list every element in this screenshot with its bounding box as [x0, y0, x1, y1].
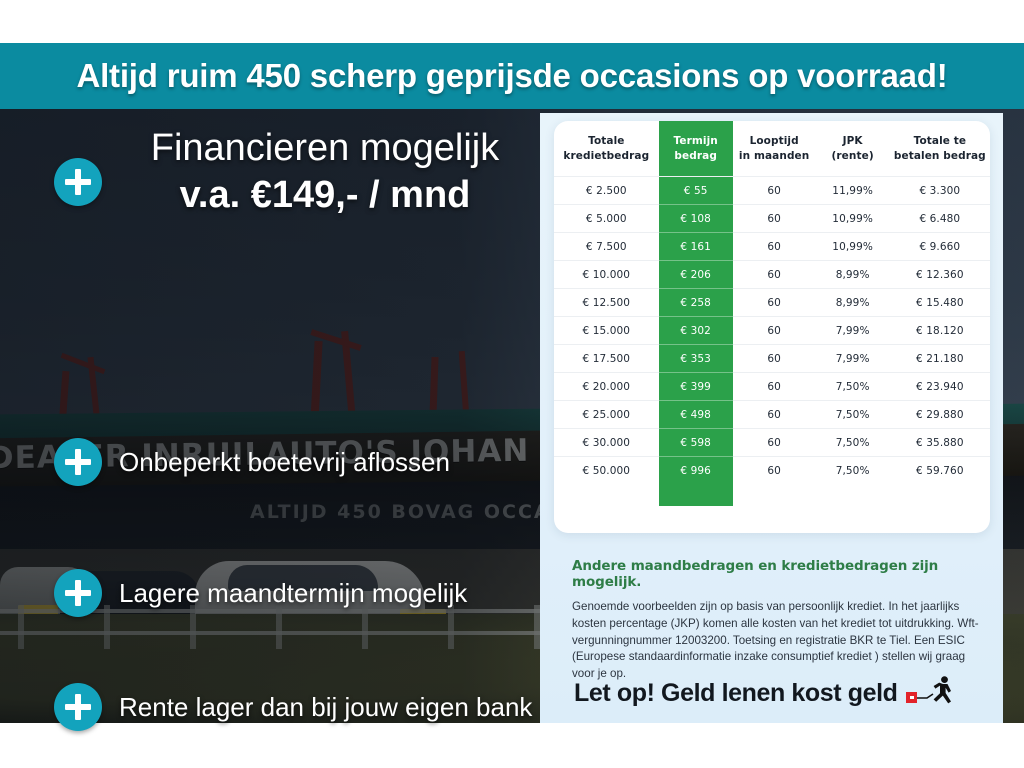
table-cell: € 18.120 [890, 317, 990, 345]
table-cell: € 15.480 [890, 289, 990, 317]
table-cell: 8,99% [816, 289, 890, 317]
promo-bullet-2: Lagere maandtermijn mogelijk [54, 569, 467, 617]
table-cell: 11,99% [816, 177, 890, 205]
table-cell: € 7.500 [554, 233, 659, 261]
credit-warning-text: Let op! Geld lenen kost geld [574, 679, 898, 708]
table-row: € 20.000€ 399607,50%€ 23.940 [554, 373, 990, 401]
table-cell: 7,50% [816, 457, 890, 485]
column-header-termijn-bedrag: Termijn bedrag [659, 121, 733, 177]
finance-table: Totale kredietbedrag Termijn bedrag Loop… [554, 121, 990, 484]
table-cell: € 498 [659, 401, 733, 429]
table-cell: € 598 [659, 429, 733, 457]
table-cell: € 6.480 [890, 205, 990, 233]
table-cell: 60 [733, 317, 816, 345]
table-cell: € 996 [659, 457, 733, 485]
table-cell: € 29.880 [890, 401, 990, 429]
header-line: (rente) [818, 149, 888, 164]
header-line: in maanden [735, 149, 814, 164]
table-cell: 60 [733, 205, 816, 233]
header-line: Looptijd [735, 134, 814, 149]
table-cell: € 9.660 [890, 233, 990, 261]
column-header-totale-te-betalen: Totale te betalen bedrag [890, 121, 990, 177]
header-line: Termijn [661, 134, 731, 149]
header-line: JPK [818, 134, 888, 149]
table-cell: € 21.180 [890, 345, 990, 373]
table-row: € 25.000€ 498607,50%€ 29.880 [554, 401, 990, 429]
plus-icon [54, 158, 102, 206]
plus-icon [54, 683, 102, 731]
table-row: € 5.000€ 1086010,99%€ 6.480 [554, 205, 990, 233]
table-cell: 10,99% [816, 205, 890, 233]
finance-table-body: € 2.500€ 556011,99%€ 3.300€ 5.000€ 10860… [554, 177, 990, 485]
table-cell: € 59.760 [890, 457, 990, 485]
finance-table-head: Totale kredietbedrag Termijn bedrag Loop… [554, 121, 990, 177]
table-cell: € 302 [659, 317, 733, 345]
table-cell: 7,50% [816, 401, 890, 429]
header-line: kredietbedrag [556, 149, 657, 164]
table-cell: € 206 [659, 261, 733, 289]
header-line: bedrag [661, 149, 731, 164]
table-row: € 17.500€ 353607,99%€ 21.180 [554, 345, 990, 373]
finance-info-panel: Totale kredietbedrag Termijn bedrag Loop… [540, 113, 1003, 723]
header-line: Totale te [892, 134, 988, 149]
table-row: € 10.000€ 206608,99%€ 12.360 [554, 261, 990, 289]
table-cell: 7,50% [816, 373, 890, 401]
table-cell: € 15.000 [554, 317, 659, 345]
table-cell: 7,99% [816, 317, 890, 345]
promo-bullet-1: Onbeperkt boetevrij aflossen [54, 438, 450, 486]
table-cell: € 108 [659, 205, 733, 233]
disclaimer-block: Andere maandbedragen en kredietbedragen … [572, 558, 980, 683]
table-cell: € 2.500 [554, 177, 659, 205]
advertisement-slide: Altijd ruim 450 scherp geprijsde occasio… [0, 0, 1024, 768]
table-cell: 60 [733, 233, 816, 261]
promo-bullet-label: Rente lager dan bij jouw eigen bank [119, 692, 532, 723]
table-cell: 60 [733, 345, 816, 373]
promo-headline: Financieren mogelijk v.a. €149,- / mnd [110, 125, 540, 221]
table-cell: € 10.000 [554, 261, 659, 289]
table-cell: € 5.000 [554, 205, 659, 233]
column-header-looptijd: Looptijd in maanden [733, 121, 816, 177]
disclaimer-body: Genoemde voorbeelden zijn op basis van p… [572, 599, 980, 683]
table-cell: 8,99% [816, 261, 890, 289]
table-cell: € 35.880 [890, 429, 990, 457]
header-line: betalen bedrag [892, 149, 988, 164]
table-cell: 60 [733, 401, 816, 429]
table-cell: 60 [733, 261, 816, 289]
table-cell: € 161 [659, 233, 733, 261]
table-cell: 60 [733, 457, 816, 485]
table-cell: 60 [733, 373, 816, 401]
table-row: € 7.500€ 1616010,99%€ 9.660 [554, 233, 990, 261]
table-cell: € 20.000 [554, 373, 659, 401]
promo-headline-line1: Financieren mogelijk [110, 125, 540, 171]
promo-copy: Financieren mogelijk v.a. €149,- / mnd O… [0, 109, 545, 723]
table-cell: € 12.500 [554, 289, 659, 317]
table-cell: 10,99% [816, 233, 890, 261]
table-cell: € 50.000 [554, 457, 659, 485]
table-cell: € 12.360 [890, 261, 990, 289]
plus-icon [54, 438, 102, 486]
table-row: € 30.000€ 598607,50%€ 35.880 [554, 429, 990, 457]
table-row: € 15.000€ 302607,99%€ 18.120 [554, 317, 990, 345]
disclaimer-title: Andere maandbedragen en kredietbedragen … [572, 558, 980, 590]
table-row: € 2.500€ 556011,99%€ 3.300 [554, 177, 990, 205]
table-cell: € 30.000 [554, 429, 659, 457]
table-cell: € 3.300 [890, 177, 990, 205]
plus-icon [54, 569, 102, 617]
header-line: Totale [556, 134, 657, 149]
table-cell: € 55 [659, 177, 733, 205]
promo-headline-line2: v.a. €149,- / mnd [110, 171, 540, 220]
table-cell: € 17.500 [554, 345, 659, 373]
top-banner: Altijd ruim 450 scherp geprijsde occasio… [0, 43, 1024, 109]
table-cell: € 399 [659, 373, 733, 401]
credit-warning: Let op! Geld lenen kost geld [574, 676, 958, 711]
table-row: € 50.000€ 996607,50%€ 59.760 [554, 457, 990, 485]
finance-table-card: Totale kredietbedrag Termijn bedrag Loop… [554, 121, 990, 533]
walking-man-with-ball-and-chain-icon [906, 676, 958, 711]
table-cell: 60 [733, 429, 816, 457]
promo-bullet-3: Rente lager dan bij jouw eigen bank [54, 683, 532, 731]
table-row: € 12.500€ 258608,99%€ 15.480 [554, 289, 990, 317]
table-cell: 60 [733, 177, 816, 205]
promo-bullet-label: Lagere maandtermijn mogelijk [119, 578, 467, 609]
banner-headline: Altijd ruim 450 scherp geprijsde occasio… [76, 57, 947, 95]
table-cell: 7,99% [816, 345, 890, 373]
table-cell: 60 [733, 289, 816, 317]
table-cell: € 353 [659, 345, 733, 373]
column-header-jpk: JPK (rente) [816, 121, 890, 177]
column-header-totale-kredietbedrag: Totale kredietbedrag [554, 121, 659, 177]
table-cell: 7,50% [816, 429, 890, 457]
table-header-row: Totale kredietbedrag Termijn bedrag Loop… [554, 121, 990, 177]
promo-bullet-label: Onbeperkt boetevrij aflossen [119, 447, 450, 478]
table-cell: € 25.000 [554, 401, 659, 429]
table-cell: € 23.940 [890, 373, 990, 401]
table-cell: € 258 [659, 289, 733, 317]
